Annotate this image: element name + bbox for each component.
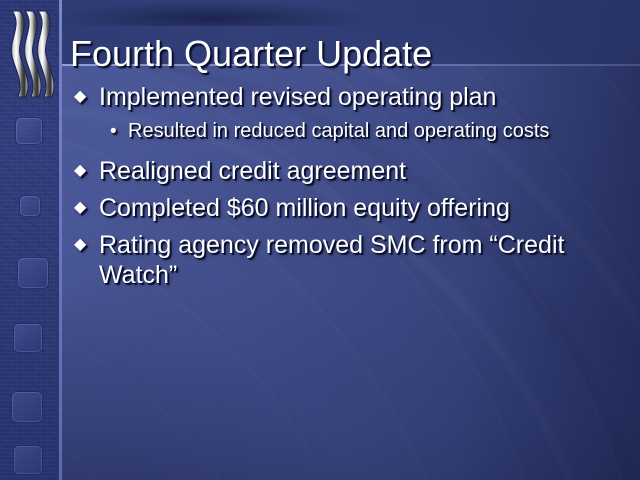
- sidebar-divider: [59, 0, 62, 480]
- bullet-text: Implemented revised operating plan: [99, 82, 634, 112]
- logo-svg: [8, 8, 56, 100]
- bullet-text: Resulted in reduced capital and operatin…: [128, 119, 634, 144]
- bullet-item: ◆ Implemented revised operating plan: [74, 82, 634, 112]
- presentation-slide: Fourth Quarter Update: [0, 0, 640, 480]
- diamond-bullet-icon: ◆: [74, 230, 99, 260]
- bullet-item: ◆ Realigned credit agreement: [74, 156, 634, 186]
- bullet-item: ◆ Completed $60 million equity offering: [74, 193, 634, 223]
- bullet-text: Completed $60 million equity offering: [99, 193, 634, 223]
- diamond-bullet-icon: ◆: [74, 82, 99, 112]
- bullet-item: ◆ Rating agency removed SMC from “Credit…: [74, 230, 634, 290]
- bullet-text: Realigned credit agreement: [99, 156, 634, 186]
- page-title: Fourth Quarter Update: [70, 30, 630, 78]
- title-band-shadow: [60, 0, 400, 26]
- slide-body: ◆ Implemented revised operating plan • R…: [74, 82, 634, 297]
- round-bullet-icon: •: [110, 119, 128, 144]
- bullet-text: Rating agency removed SMC from “Credit W…: [99, 230, 634, 290]
- bullet-item: • Resulted in reduced capital and operat…: [110, 119, 634, 144]
- three-wave-ribbons-logo: [8, 8, 56, 100]
- diamond-bullet-icon: ◆: [74, 193, 99, 223]
- diamond-bullet-icon: ◆: [74, 156, 99, 186]
